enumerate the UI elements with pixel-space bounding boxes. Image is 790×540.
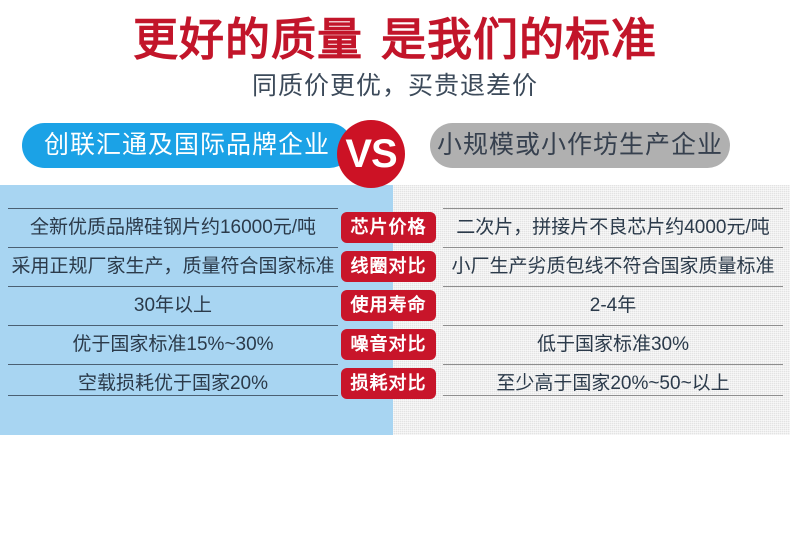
table-row: 优于国家标准15%~30% 噪音对比 低于国家标准30% xyxy=(0,325,790,364)
watermark-text: 创联汇通 xyxy=(110,472,326,526)
vs-bar: 创联汇通及国际品牌企业 VS 小规模或小作坊生产企业 xyxy=(0,112,790,184)
table-bottom-rule-left xyxy=(8,395,338,396)
row-right-value: 至少高于国家20%~50~以上 xyxy=(443,364,783,402)
row-right-value: 小厂生产劣质包线不符合国家质量标准 xyxy=(443,247,783,285)
comparison-rows: 全新优质品牌硅钢片约16000元/吨 芯片价格 二次片，拼接片不良芯片约4000… xyxy=(0,185,790,435)
table-bottom-rule-right xyxy=(443,395,783,396)
row-left-value: 空载损耗优于国家20% xyxy=(8,364,338,402)
comparison-table: 创联汇通 CHUANGLIAN HUITONG 全新优质品牌硅钢片约16000元… xyxy=(0,185,790,435)
brand-pill-good: 创联汇通及国际品牌企业 xyxy=(22,123,352,168)
vs-inner: 创联汇通及国际品牌企业 VS 小规模或小作坊生产企业 xyxy=(0,123,790,173)
brand-pill-bad: 小规模或小作坊生产企业 xyxy=(430,123,730,168)
header: 更好的质量是我们的标准 同质价更优，买贵退差价 xyxy=(0,0,790,112)
page-subtitle: 同质价更优，买贵退差价 xyxy=(0,70,790,102)
table-row: 采用正规厂家生产，质量符合国家标准 线圈对比 小厂生产劣质包线不符合国家质量标准 xyxy=(0,247,790,286)
table-row: 全新优质品牌硅钢片约16000元/吨 芯片价格 二次片，拼接片不良芯片约4000… xyxy=(0,208,790,247)
page-title-part1: 更好的质量 xyxy=(133,14,363,65)
row-right-value: 2-4年 xyxy=(443,286,783,324)
brand-logo-icon xyxy=(48,476,100,528)
vs-badge: VS xyxy=(337,120,405,188)
table-row: 空载损耗优于国家20% 损耗对比 至少高于国家20%~50~以上 xyxy=(0,364,790,403)
promo-page: 更好的质量是我们的标准 同质价更优，买贵退差价 创联汇通及国际品牌企业 VS 小… xyxy=(0,0,790,464)
row-left-value: 全新优质品牌硅钢片约16000元/吨 xyxy=(8,208,338,246)
row-category-tag: 使用寿命 xyxy=(341,290,436,321)
watermark-subtext: CHUANGLIAN HUITONG xyxy=(198,522,414,534)
row-category-tag: 损耗对比 xyxy=(341,368,436,399)
row-right-value: 二次片，拼接片不良芯片约4000元/吨 xyxy=(443,208,783,246)
page-title: 更好的质量是我们的标准 xyxy=(0,14,790,66)
row-category-tag: 芯片价格 xyxy=(341,212,436,243)
row-left-value: 采用正规厂家生产，质量符合国家标准 xyxy=(8,247,338,285)
row-left-value: 优于国家标准15%~30% xyxy=(8,325,338,363)
row-category-tag: 线圈对比 xyxy=(341,251,436,282)
page-title-part2: 是我们的标准 xyxy=(381,14,657,65)
watermark: 创联汇通 CHUANGLIAN HUITONG xyxy=(48,470,338,540)
row-category-tag: 噪音对比 xyxy=(341,329,436,360)
row-left-value: 30年以上 xyxy=(8,286,338,324)
row-right-value: 低于国家标准30% xyxy=(443,325,783,363)
table-row: 30年以上 使用寿命 2-4年 xyxy=(0,286,790,325)
